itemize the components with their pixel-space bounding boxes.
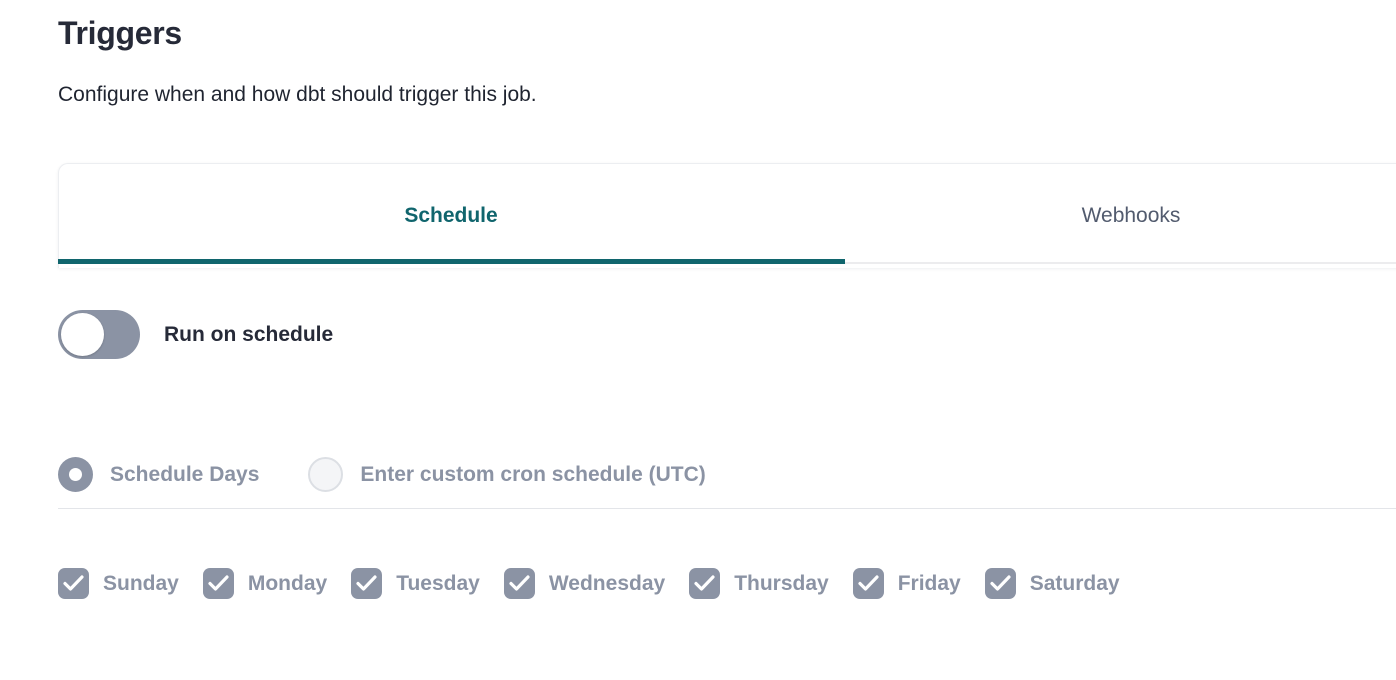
day-checkbox-sunday[interactable]: Sunday	[58, 568, 179, 599]
checkmark-icon	[58, 568, 89, 599]
triggers-page: Triggers Configure when and how dbt shou…	[0, 0, 1396, 680]
page-title: Triggers	[58, 12, 182, 54]
day-checkbox-monday[interactable]: Monday	[203, 568, 327, 599]
day-label-thursday: Thursday	[734, 572, 829, 596]
checkmark-icon	[985, 568, 1016, 599]
tab-schedule[interactable]: Schedule	[58, 163, 844, 268]
run-on-schedule-label: Run on schedule	[164, 323, 333, 347]
tabs-active-indicator	[58, 259, 845, 264]
tab-webhooks[interactable]: Webhooks	[844, 163, 1396, 268]
radio-option-custom-cron-label: Enter custom cron schedule (UTC)	[360, 463, 705, 487]
radio-option-schedule-days-label: Schedule Days	[110, 463, 259, 487]
day-label-sunday: Sunday	[103, 572, 179, 596]
day-label-wednesday: Wednesday	[549, 572, 665, 596]
day-label-monday: Monday	[248, 572, 327, 596]
radio-unselected-icon	[308, 457, 343, 492]
section-divider	[58, 508, 1396, 509]
run-on-schedule-toggle[interactable]	[58, 310, 140, 359]
radio-option-schedule-days[interactable]: Schedule Days	[58, 457, 259, 492]
radio-selected-icon	[58, 457, 93, 492]
checkmark-icon	[504, 568, 535, 599]
day-checkbox-tuesday[interactable]: Tuesday	[351, 568, 480, 599]
checkmark-icon	[689, 568, 720, 599]
run-on-schedule-row: Run on schedule	[58, 310, 333, 359]
day-label-friday: Friday	[898, 572, 961, 596]
toggle-knob-icon	[61, 313, 104, 356]
day-checkbox-thursday[interactable]: Thursday	[689, 568, 829, 599]
radio-option-custom-cron[interactable]: Enter custom cron schedule (UTC)	[308, 457, 705, 492]
schedule-mode-radio-group: Schedule Days Enter custom cron schedule…	[58, 457, 706, 492]
day-label-saturday: Saturday	[1030, 572, 1120, 596]
day-checkbox-wednesday[interactable]: Wednesday	[504, 568, 665, 599]
checkmark-icon	[351, 568, 382, 599]
day-checkbox-friday[interactable]: Friday	[853, 568, 961, 599]
checkmark-icon	[203, 568, 234, 599]
schedule-days-checkbox-group: Sunday Monday Tuesday Wednesday Thursday	[58, 568, 1120, 599]
page-subtitle: Configure when and how dbt should trigge…	[58, 80, 537, 110]
tabs-bar: Schedule Webhooks	[58, 163, 1396, 268]
day-checkbox-saturday[interactable]: Saturday	[985, 568, 1120, 599]
checkmark-icon	[853, 568, 884, 599]
day-label-tuesday: Tuesday	[396, 572, 480, 596]
